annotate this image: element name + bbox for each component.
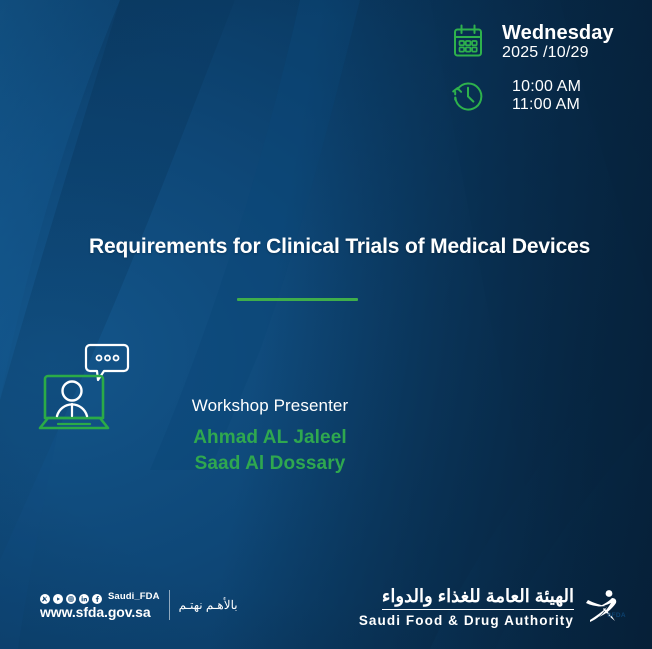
presenter-names: Ahmad AL Jaleel Saad Al Dossary	[160, 425, 380, 476]
time-end-label: 11:00 AM	[512, 96, 581, 114]
datetime-block: Wednesday 2025 /10/29 10:00 AM 11:00 AM	[448, 20, 614, 118]
footer-contact-stack: Saudi_FDA www.sfda.gov.sa	[40, 591, 160, 620]
footer-contact-block: Saudi_FDA www.sfda.gov.sa بالأهـم نهتـم	[40, 590, 238, 620]
clock-history-icon	[448, 74, 488, 118]
sfda-authority-english: Saudi Food & Drug Authority	[359, 613, 574, 628]
presenter-block: Workshop Presenter Ahmad AL Jaleel Saad …	[160, 396, 380, 476]
sfda-authority-arabic: الهيئة العامة للغذاء والدواء	[382, 586, 574, 609]
date-row: Wednesday 2025 /10/29	[448, 20, 614, 64]
time-row: 10:00 AM 11:00 AM	[448, 74, 614, 118]
footer-divider	[169, 590, 170, 620]
time-start-label: 10:00 AM	[512, 78, 581, 96]
sfda-logo-mark-text: SFDA	[607, 612, 626, 619]
sfda-logo-mark: SFDA	[582, 584, 628, 630]
time-text-group: 10:00 AM 11:00 AM	[502, 78, 581, 114]
social-links-row: Saudi_FDA	[40, 591, 160, 602]
date-text-group: Wednesday 2025 /10/29	[502, 22, 614, 62]
sfda-logo-wordmark: الهيئة العامة للغذاء والدواء Saudi Food …	[359, 586, 574, 627]
page-title: Requirements for Clinical Trials of Medi…	[89, 235, 590, 259]
poster-canvas: Wednesday 2025 /10/29 10:00 AM 11:00 AM …	[0, 0, 652, 649]
social-handle-label: Saudi_FDA	[108, 591, 160, 602]
title-underline-accent	[237, 298, 358, 301]
twitter-x-icon[interactable]	[40, 591, 50, 601]
facebook-icon[interactable]	[92, 591, 102, 601]
linkedin-icon[interactable]	[79, 591, 89, 601]
youtube-icon[interactable]	[53, 591, 63, 601]
presenter-name-1: Ahmad AL Jaleel	[160, 425, 380, 451]
instagram-icon[interactable]	[66, 591, 76, 601]
weekday-label: Wednesday	[502, 22, 614, 44]
sfda-logo-block: الهيئة العامة للغذاء والدواء Saudi Food …	[359, 584, 628, 630]
website-url-label[interactable]: www.sfda.gov.sa	[40, 604, 160, 620]
laptop-webinar-icon	[38, 340, 134, 444]
presenter-name-2: Saad Al Dossary	[160, 451, 380, 477]
presenter-label: Workshop Presenter	[160, 396, 380, 416]
tagline-label: بالأهـم نهتـم	[179, 598, 238, 612]
calendar-icon	[448, 20, 488, 64]
date-label: 2025 /10/29	[502, 44, 614, 62]
